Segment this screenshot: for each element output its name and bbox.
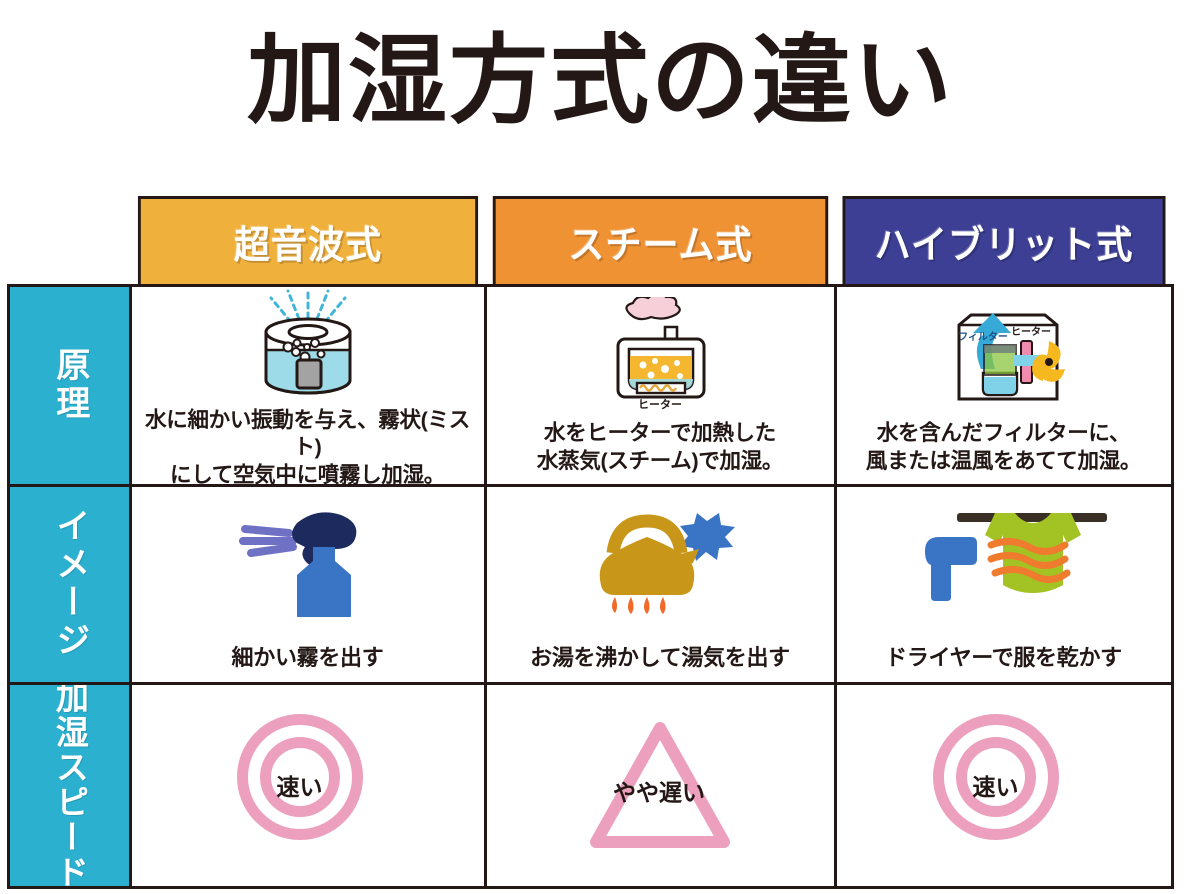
column-header-hybrid: ハイブリット式	[842, 196, 1165, 287]
row-header-label: イメージ	[51, 508, 87, 660]
table-corner-cell	[7, 196, 132, 287]
cell-speed-hybrid: 速い	[834, 682, 1174, 889]
heater-label: ヒーター	[638, 398, 682, 411]
cell-principle-steam: ヒーター 水をヒーターで加熱した 水蒸気(スチーム)で加湿。	[484, 284, 837, 487]
hairdryer-shirt-icon	[899, 496, 1109, 618]
cell-text: 水に細かい振動を与え、霧状(ミスト) にして空気中に噴霧し加湿。	[140, 407, 476, 487]
cell-image-ultrasonic: 細かい霧を出す	[129, 484, 487, 685]
cell-image-steam: お湯を沸かして湯気を出す	[484, 484, 837, 685]
cell-text: ドライヤーで服を乾かす	[885, 644, 1122, 672]
cell-principle-hybrid: フィルター ヒーター 水を含んだフィルターに、 風または温風をあてて加湿。	[834, 284, 1174, 487]
double-circle-mark-icon: 速い	[233, 710, 383, 860]
row-header-label: 原理	[51, 347, 87, 423]
speed-label: やや遅い	[579, 773, 739, 807]
page-title: 加湿方式の違い	[247, 32, 954, 129]
ultrasonic-tank-icon	[233, 284, 383, 401]
cell-text: 細かい霧を出す	[232, 644, 384, 672]
row-header-label: 加湿スピード	[52, 682, 87, 889]
spray-bottle-icon	[213, 496, 403, 618]
title-bar: 加湿方式の違い	[0, 0, 1200, 160]
column-header-ultrasonic: 超音波式	[137, 196, 477, 287]
cell-text: 水を含んだフィルターに、 風または温風をあてて加湿。	[866, 420, 1141, 475]
column-header-steam: スチーム式	[492, 196, 827, 287]
column-header-label: 超音波式	[233, 214, 381, 269]
triangle-mark-icon: やや遅い	[585, 710, 735, 860]
comparison-table: 超音波式 スチーム式 ハイブリット式 原理	[8, 197, 1172, 887]
cell-principle-ultrasonic: 水に細かい振動を与え、霧状(ミスト) にして空気中に噴霧し加湿。	[129, 284, 487, 487]
cell-speed-steam: やや遅い	[484, 682, 837, 889]
row-header-principle: 原理	[7, 284, 132, 487]
steam-boiler-icon: ヒーター	[585, 296, 735, 414]
heater-label: ヒーター	[1011, 326, 1051, 338]
row-header-speed: 加湿スピード	[7, 682, 132, 889]
speed-label: 速い	[233, 768, 367, 802]
filter-label: フィルター	[958, 331, 1008, 343]
column-header-label: スチーム式	[568, 214, 752, 269]
cell-image-hybrid: ドライヤーで服を乾かす	[834, 484, 1174, 685]
speed-label: 速い	[929, 768, 1063, 802]
cell-speed-ultrasonic: 速い	[129, 682, 487, 889]
cell-text: 水をヒーターで加熱した 水蒸気(スチーム)で加湿。	[537, 420, 783, 475]
row-header-image: イメージ	[7, 484, 132, 685]
kettle-steam-icon	[565, 496, 755, 618]
double-circle-mark-icon: 速い	[929, 710, 1079, 860]
column-header-label: ハイブリット式	[874, 214, 1133, 269]
hybrid-filter-fan-icon: フィルター ヒーター	[925, 296, 1083, 414]
cell-text: お湯を沸かして湯気を出す	[530, 644, 790, 672]
